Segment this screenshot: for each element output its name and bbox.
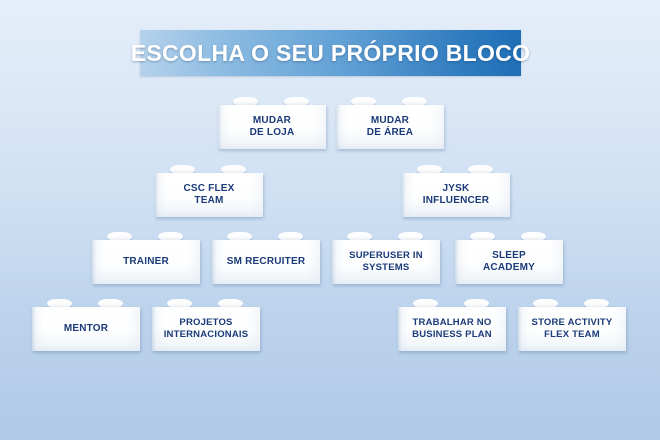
brick-label: MENTOR [64, 323, 108, 336]
brick-body[interactable]: CSC FLEX TEAM [155, 173, 263, 217]
brick-body[interactable]: MENTOR [32, 307, 140, 351]
brick-label: STORE ACTIVITY FLEX TEAM [532, 317, 613, 341]
brick-body[interactable]: JYSK INFLUENCER [402, 173, 510, 217]
lego-brick[interactable]: SUPERUSER IN SYSTEMS [332, 232, 440, 284]
brick-body[interactable]: SUPERUSER IN SYSTEMS [332, 240, 440, 284]
brick-label: TRAINER [123, 256, 169, 269]
lego-brick[interactable]: JYSK INFLUENCER [402, 165, 510, 217]
brick-label: SM RECRUITER [227, 256, 306, 269]
lego-brick[interactable]: CSC FLEX TEAM [155, 165, 263, 217]
brick-body[interactable]: TRAINER [92, 240, 200, 284]
brick-body[interactable]: STORE ACTIVITY FLEX TEAM [518, 307, 626, 351]
brick-body[interactable]: SLEEP ACADEMY [455, 240, 563, 284]
brick-label: CSC FLEX TEAM [183, 183, 234, 208]
lego-brick[interactable]: MUDAR DE ÁREA [336, 97, 444, 149]
lego-brick[interactable]: PROJETOS INTERNACIONAIS [152, 299, 260, 351]
brick-label: MUDAR DE ÁREA [367, 115, 413, 140]
brick-body[interactable]: MUDAR DE LOJA [218, 105, 326, 149]
brick-body[interactable]: TRABALHAR NO BUSINESS PLAN [398, 307, 506, 351]
brick-label: TRABALHAR NO BUSINESS PLAN [412, 317, 492, 341]
page-title: ESCOLHA O SEU PRÓPRIO BLOCO [131, 40, 531, 67]
brick-body[interactable]: MUDAR DE ÁREA [336, 105, 444, 149]
page-title-banner: ESCOLHA O SEU PRÓPRIO BLOCO [140, 30, 521, 76]
lego-brick[interactable]: MUDAR DE LOJA [218, 97, 326, 149]
brick-label: SUPERUSER IN SYSTEMS [349, 250, 423, 274]
lego-brick[interactable]: SLEEP ACADEMY [455, 232, 563, 284]
brick-body[interactable]: SM RECRUITER [212, 240, 320, 284]
brick-label: PROJETOS INTERNACIONAIS [164, 317, 249, 341]
brick-label: SLEEP ACADEMY [483, 250, 535, 275]
lego-brick[interactable]: STORE ACTIVITY FLEX TEAM [518, 299, 626, 351]
lego-brick[interactable]: TRABALHAR NO BUSINESS PLAN [398, 299, 506, 351]
brick-label: MUDAR DE LOJA [250, 115, 295, 140]
lego-brick[interactable]: SM RECRUITER [212, 232, 320, 284]
lego-brick[interactable]: MENTOR [32, 299, 140, 351]
lego-brick[interactable]: TRAINER [92, 232, 200, 284]
brick-label: JYSK INFLUENCER [423, 183, 489, 208]
brick-body[interactable]: PROJETOS INTERNACIONAIS [152, 307, 260, 351]
